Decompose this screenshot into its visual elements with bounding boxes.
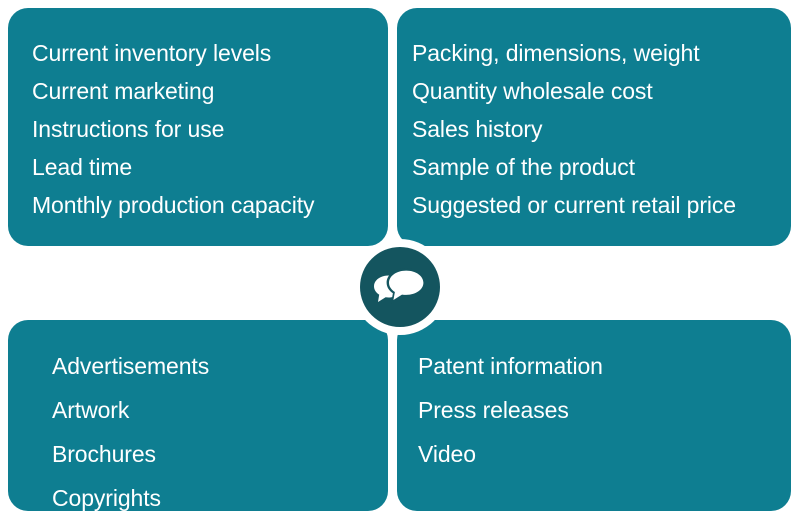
quadrant-diagram: Current inventory levels Current marketi…: [0, 0, 800, 518]
speech-bubbles-icon: [372, 265, 428, 309]
item-list-bottom-right: Patent information Press releases Video: [418, 344, 603, 476]
item-list-top-right: Packing, dimensions, weight Quantity who…: [412, 34, 736, 224]
center-emblem-disc: [360, 247, 440, 327]
list-item: Lead time: [32, 148, 314, 186]
list-item: Press releases: [418, 388, 603, 432]
quadrant-panel-bottom-left: Advertisements Artwork Brochures Copyrig…: [8, 320, 388, 511]
list-item: Current marketing: [32, 72, 314, 110]
list-item: Advertisements: [52, 344, 209, 388]
list-item: Video: [418, 432, 603, 476]
list-item: Current inventory levels: [32, 34, 314, 72]
item-list-top-left: Current inventory levels Current marketi…: [32, 34, 314, 224]
list-item: Instructions for use: [32, 110, 314, 148]
list-item: Monthly production capacity: [32, 186, 314, 224]
list-item: Brochures: [52, 432, 209, 476]
list-item: Sample of the product: [412, 148, 736, 186]
quadrant-panel-bottom-right: Patent information Press releases Video: [397, 320, 791, 511]
list-item: Packing, dimensions, weight: [412, 34, 736, 72]
list-item: Patent information: [418, 344, 603, 388]
list-item: Suggested or current retail price: [412, 186, 736, 224]
item-list-bottom-left: Advertisements Artwork Brochures Copyrig…: [52, 344, 209, 511]
list-item: Copyrights: [52, 476, 209, 511]
list-item: Artwork: [52, 388, 209, 432]
list-item: Quantity wholesale cost: [412, 72, 736, 110]
quadrant-panel-top-left: Current inventory levels Current marketi…: [8, 8, 388, 246]
quadrant-panel-top-right: Packing, dimensions, weight Quantity who…: [397, 8, 791, 246]
list-item: Sales history: [412, 110, 736, 148]
